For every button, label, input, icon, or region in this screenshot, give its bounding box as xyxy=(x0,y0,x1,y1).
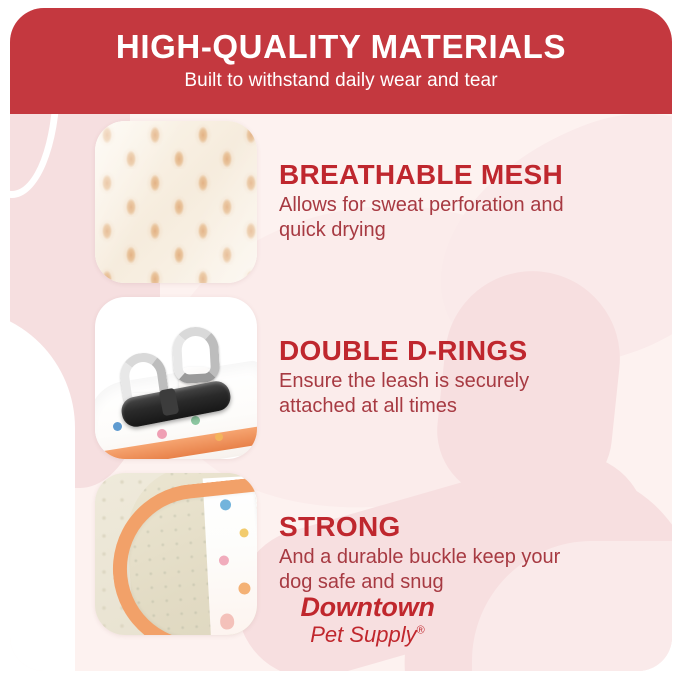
feature-image-double-d-rings xyxy=(95,297,257,459)
feature-copy-3: STRONG And a durable buckle keep your do… xyxy=(257,512,593,596)
feature-title-3: STRONG xyxy=(279,512,579,543)
brand-name-line1: Downtown xyxy=(56,594,679,621)
print-dot xyxy=(215,433,223,441)
brand-logo: Downtown Pet Supply® xyxy=(0,594,679,647)
product-infographic: HIGH-QUALITY MATERIALS Built to withstan… xyxy=(0,0,679,679)
feature-body-3: And a durable buckle keep your dog safe … xyxy=(279,545,579,596)
page-subtitle: Built to withstand daily wear and tear xyxy=(184,70,497,92)
brand-name-line2: Pet Supply® xyxy=(56,622,679,647)
feature-list: BREATHABLE MESH Allows for sweat perfora… xyxy=(0,114,679,642)
d-ring-right xyxy=(172,326,221,384)
mesh-sheen xyxy=(95,121,257,283)
brand-line2-text: Pet Supply xyxy=(310,622,416,647)
feature-row-breathable-mesh: BREATHABLE MESH Allows for sweat perfora… xyxy=(0,114,679,290)
header-banner: HIGH-QUALITY MATERIALS Built to withstan… xyxy=(10,8,672,114)
feature-title-1: BREATHABLE MESH xyxy=(279,160,579,191)
feature-row-double-d-rings: DOUBLE D-RINGS Ensure the leash is secur… xyxy=(0,290,679,466)
feature-body-2: Ensure the leash is securely attached at… xyxy=(279,369,579,420)
feature-copy-2: DOUBLE D-RINGS Ensure the leash is secur… xyxy=(257,336,593,420)
print-dot xyxy=(113,422,122,431)
feature-copy-1: BREATHABLE MESH Allows for sweat perfora… xyxy=(257,160,593,244)
feature-image-breathable-mesh xyxy=(95,121,257,283)
print-dot xyxy=(157,429,167,439)
registered-trademark-icon: ® xyxy=(417,624,425,636)
print-dot xyxy=(191,416,200,425)
page-title: HIGH-QUALITY MATERIALS xyxy=(116,30,566,65)
feature-title-2: DOUBLE D-RINGS xyxy=(279,336,579,367)
feature-body-1: Allows for sweat perforation and quick d… xyxy=(279,193,579,244)
